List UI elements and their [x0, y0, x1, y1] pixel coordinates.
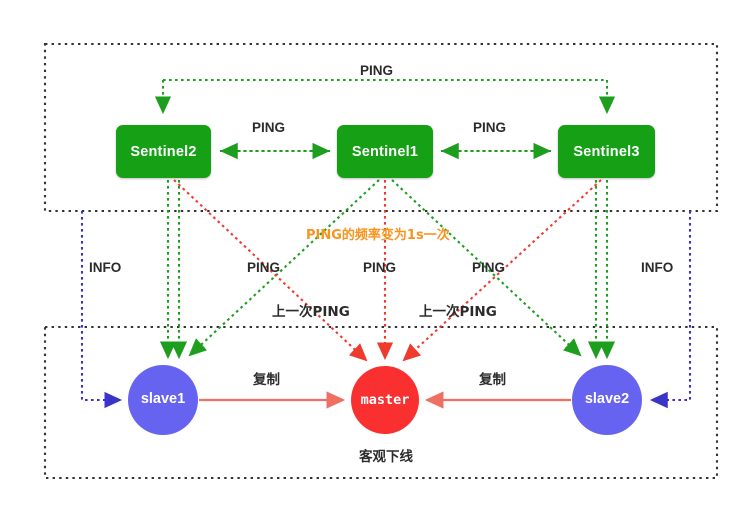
label-ping-mid: PING	[363, 260, 396, 275]
node-slave2[interactable]: slave2	[572, 365, 642, 435]
edge-ping-top	[163, 80, 607, 112]
label-ping-s2-s1: PING	[252, 120, 285, 135]
node-master-label: master	[361, 393, 410, 407]
edge-info-right	[652, 211, 690, 400]
node-sentinel2-label: Sentinel2	[130, 144, 196, 160]
node-sentinel3-label: Sentinel3	[573, 144, 639, 160]
label-replicate-right: 复制	[479, 368, 506, 388]
label-objective-down: 客观下线	[359, 445, 413, 465]
label-last-ping-left: 上一次PING	[272, 300, 350, 320]
label-last-ping-right: 上一次PING	[419, 300, 497, 320]
diagram-canvas: Sentinel2 Sentinel1 Sentinel3 slave1 mas…	[0, 0, 752, 511]
node-master[interactable]: master	[351, 366, 419, 434]
node-slave1[interactable]: slave1	[128, 365, 198, 435]
label-info-left: INFO	[89, 260, 121, 275]
label-info-right: INFO	[641, 260, 673, 275]
edge-info-left	[82, 211, 120, 400]
node-slave2-label: slave2	[585, 392, 629, 407]
node-sentinel3[interactable]: Sentinel3	[558, 125, 655, 178]
node-sentinel1-label: Sentinel1	[352, 144, 418, 160]
label-ping-frequency-note: PING的频率变为1s一次	[306, 224, 450, 243]
label-ping-left: PING	[247, 260, 280, 275]
label-ping-top: PING	[360, 63, 393, 78]
node-sentinel2[interactable]: Sentinel2	[116, 125, 211, 178]
node-slave1-label: slave1	[141, 392, 185, 407]
label-replicate-left: 复制	[253, 368, 280, 388]
node-sentinel1[interactable]: Sentinel1	[337, 125, 433, 178]
label-ping-right: PING	[472, 260, 505, 275]
label-ping-s1-s3: PING	[473, 120, 506, 135]
